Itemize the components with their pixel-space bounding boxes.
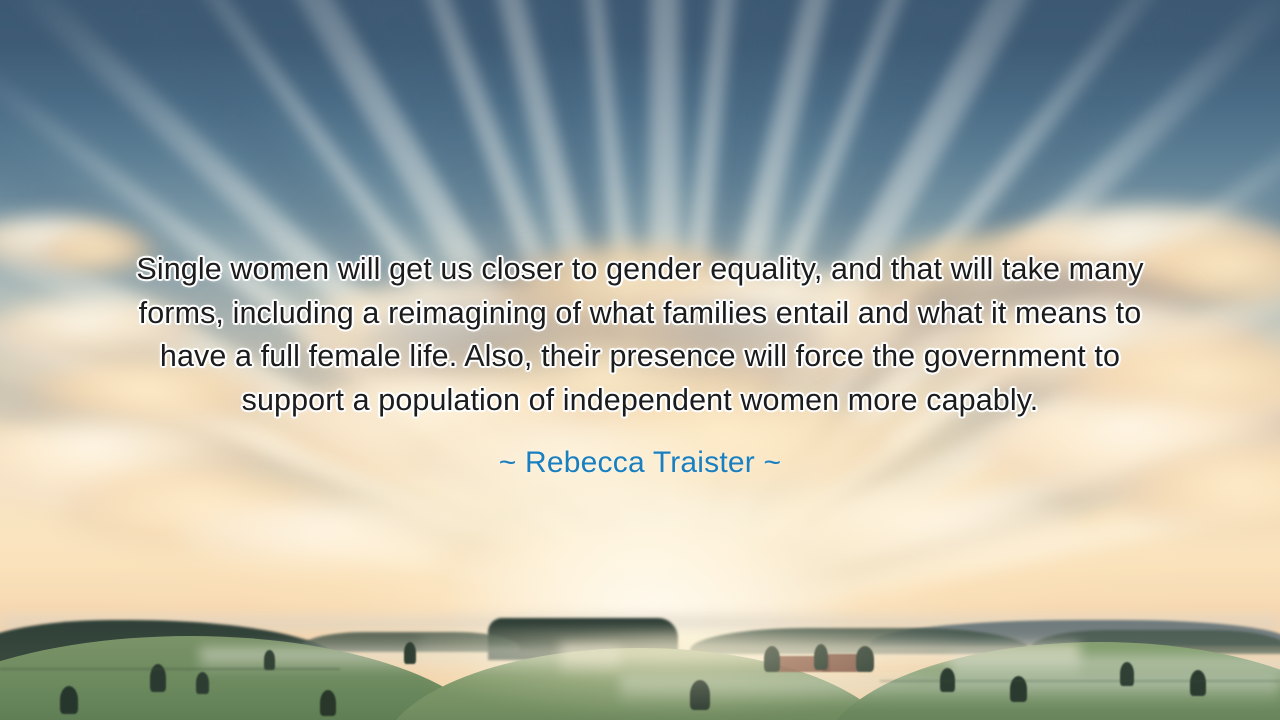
tree bbox=[1190, 670, 1206, 696]
attribution-text: ~ Rebecca Traister ~ bbox=[0, 445, 1280, 481]
quote-image-canvas: Single women will get us closer to gende… bbox=[0, 0, 1280, 720]
tree bbox=[1120, 662, 1134, 686]
tree bbox=[60, 686, 78, 714]
quote-text: Single women will get us closer to gende… bbox=[120, 248, 1160, 422]
tree bbox=[196, 672, 209, 694]
quote-content: Single women will get us closer to gende… bbox=[0, 248, 1280, 481]
tree bbox=[404, 642, 416, 664]
landscape bbox=[0, 590, 1280, 720]
field-boundary bbox=[0, 668, 340, 670]
tree bbox=[320, 690, 336, 716]
tree bbox=[264, 650, 275, 670]
field-sunlight-wash bbox=[420, 630, 980, 720]
